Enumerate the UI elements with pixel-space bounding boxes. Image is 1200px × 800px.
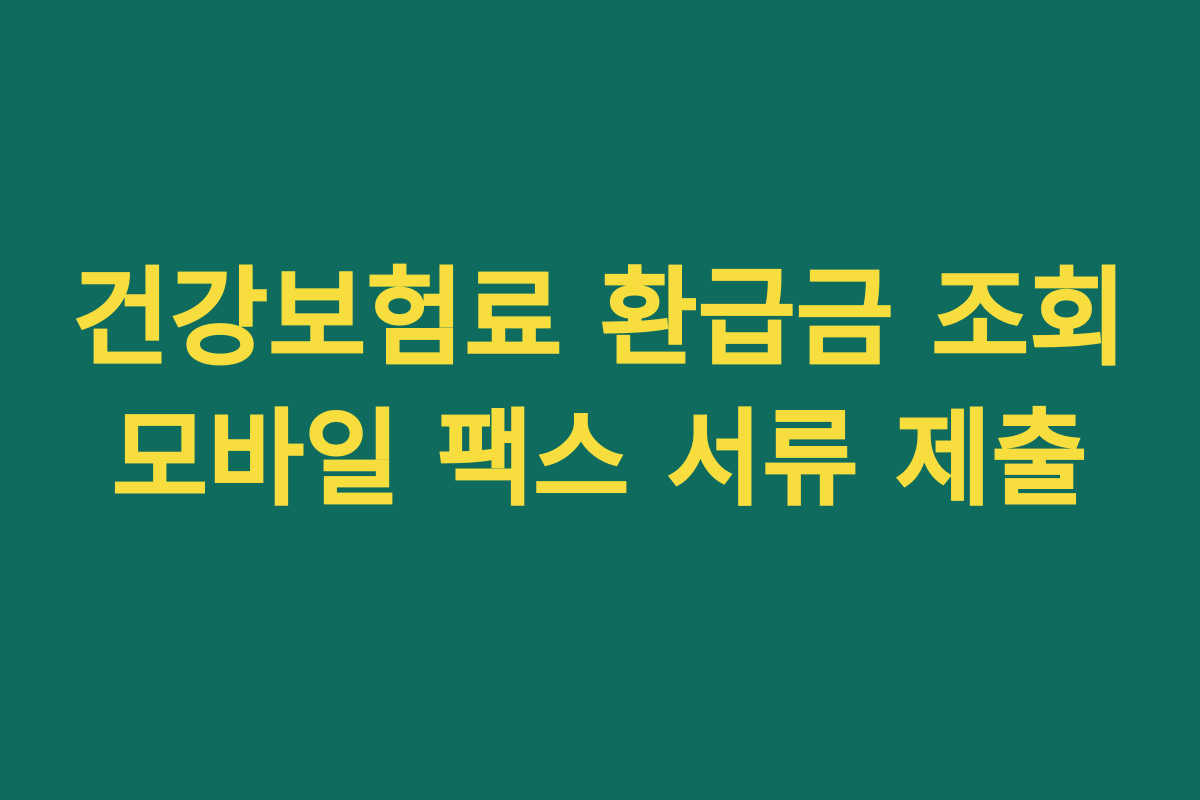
headline-line-1: 건강보험료 환급금 조회 <box>0 249 1200 389</box>
thumbnail-banner: 건강보험료 환급금 조회 모바일 팩스 서류 제출 <box>0 0 1200 800</box>
headline-line-2: 모바일 팩스 서류 제출 <box>0 389 1200 529</box>
headline-block: 건강보험료 환급금 조회 모바일 팩스 서류 제출 <box>0 249 1200 529</box>
